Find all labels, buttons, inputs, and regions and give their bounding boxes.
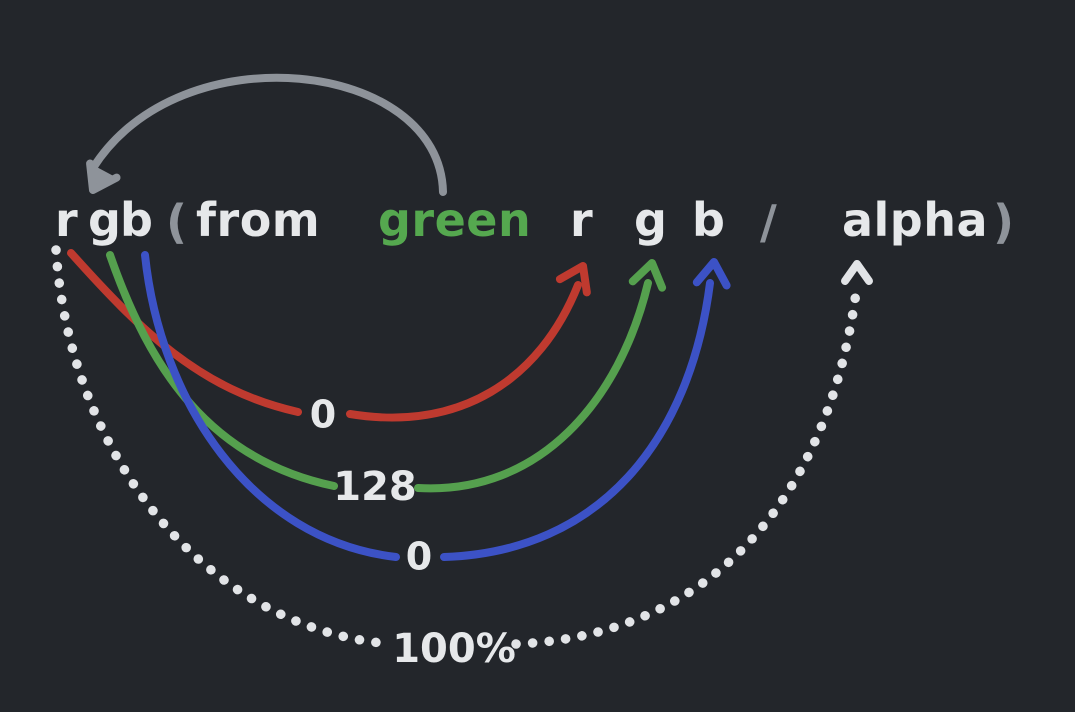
value-label-blue: 0 xyxy=(406,535,432,579)
connector-alpha-channel-right xyxy=(516,285,857,644)
token-channel-b: b xyxy=(692,193,725,247)
value-label-red: 0 xyxy=(310,393,336,437)
token-slash: / xyxy=(760,195,777,249)
token-color-green[interactable]: green xyxy=(378,193,531,247)
syntax-line: r g b ( from green r g b / alpha ) xyxy=(55,193,1015,249)
relative-color-syntax-diagram: r g b ( from green r g b / alpha ) 0 128… xyxy=(0,0,1075,712)
value-label-green: 128 xyxy=(333,464,417,510)
arrowhead-alpha xyxy=(845,264,869,281)
connector-alpha-channel-left xyxy=(56,250,392,644)
connector-layer xyxy=(56,78,857,644)
token-channel-g: g xyxy=(634,193,667,247)
token-b: b xyxy=(120,193,153,247)
token-r: r xyxy=(55,193,78,247)
token-channel-r: r xyxy=(570,193,593,247)
connector-red-channel-right xyxy=(350,285,578,418)
value-label-alpha: 100% xyxy=(392,626,516,672)
token-paren-open: ( xyxy=(166,195,188,249)
token-alpha: alpha xyxy=(842,193,988,247)
connector-origin-color xyxy=(93,78,443,192)
diagram-canvas: r g b ( from green r g b / alpha ) 0 128… xyxy=(0,0,1075,712)
connector-green-channel-right xyxy=(418,283,648,488)
token-paren-close: ) xyxy=(993,195,1015,249)
token-g: g xyxy=(88,193,121,247)
value-label-layer: 0 128 0 100% xyxy=(310,393,516,673)
token-from: from xyxy=(196,193,320,247)
